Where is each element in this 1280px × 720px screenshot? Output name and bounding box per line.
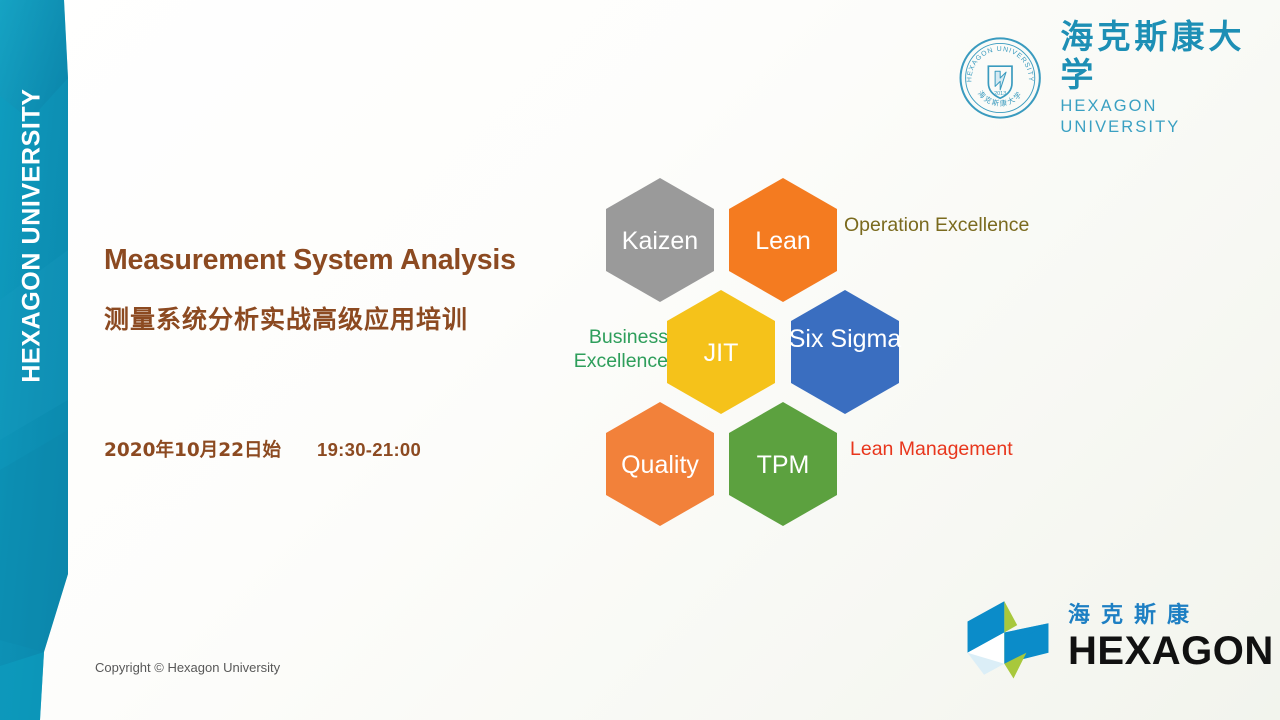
corporate-name-cn: 海克斯康 <box>1068 604 1274 628</box>
title-block: Measurement System Analysis 测量系统分析实战高级应用… <box>104 243 564 335</box>
annotation-lean-management: Lean Management <box>850 437 1013 461</box>
footer-copyright: Copyright © Hexagon University <box>95 660 280 675</box>
corporate-logo: 海克斯康 HEXAGON <box>962 592 1274 684</box>
hex-quality <box>606 402 714 526</box>
annotation-business-excellence: Business Excellence <box>548 325 668 373</box>
schedule-time: 19:30-21:00 <box>317 439 421 461</box>
hex-lean <box>729 178 837 302</box>
page-title-cn: 测量系统分析实战高级应用培训 <box>104 304 564 335</box>
schedule-date: 2020年10月22日始 <box>104 436 281 462</box>
corporate-name-en: HEXAGON <box>1068 630 1274 672</box>
hexagon-brand-mark-icon <box>962 592 1054 684</box>
left-accent-band <box>0 0 80 720</box>
schedule-line: 2020年10月22日始 19:30-21:00 <box>104 436 421 462</box>
page-title-en: Measurement System Analysis <box>104 243 564 277</box>
hex-jit <box>667 290 775 414</box>
university-name-cn: 海克斯康大学 <box>1060 18 1280 94</box>
annotation-operation-excellence: Operation Excellence <box>844 213 1029 237</box>
hex-tpm <box>729 402 837 526</box>
university-logo: HEXAGON UNIVERSITY 海克斯康大学 2013 海克斯康大学 HE… <box>958 18 1280 139</box>
university-name-en: HEXAGON UNIVERSITY <box>1060 96 1280 139</box>
hex-six-sigma <box>791 290 899 414</box>
presentation-slide: HEXAGON UNIVERSITY HEXAGON UNIVERSITY 海克… <box>0 0 1280 720</box>
university-seal-icon: HEXAGON UNIVERSITY 海克斯康大学 2013 <box>958 35 1042 121</box>
svg-text:2013: 2013 <box>994 91 1006 97</box>
hex-kaizen <box>606 178 714 302</box>
university-wordmark: 海克斯康大学 HEXAGON UNIVERSITY <box>1060 18 1280 139</box>
hexagon-diagram: Kaizen Lean JIT Six Sigma Quality TPM Op… <box>560 165 1030 545</box>
corporate-wordmark: 海克斯康 HEXAGON <box>1068 604 1274 671</box>
